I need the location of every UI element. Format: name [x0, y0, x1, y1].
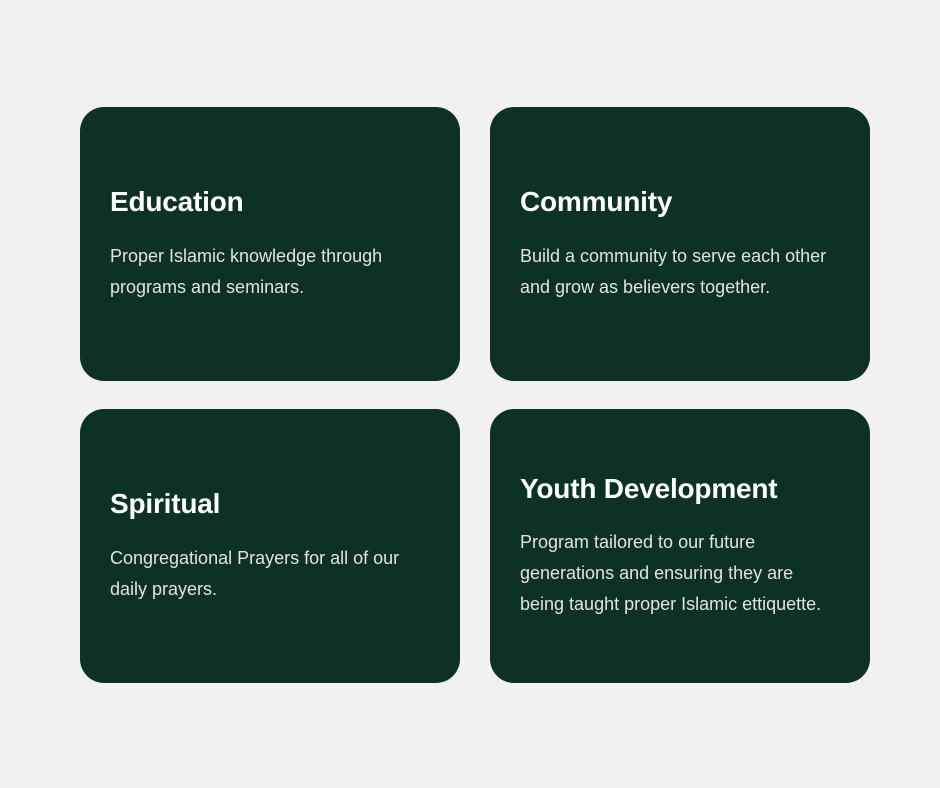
- card-body-youth-development: Program tailored to our future generatio…: [520, 527, 840, 620]
- card-title-community: Community: [520, 185, 840, 219]
- feature-card-education[interactable]: Education Proper Islamic knowledge throu…: [80, 107, 460, 381]
- feature-card-grid: Education Proper Islamic knowledge throu…: [80, 107, 870, 683]
- feature-card-youth-development[interactable]: Youth Development Program tailored to ou…: [490, 409, 870, 683]
- card-title-education: Education: [110, 185, 430, 219]
- card-title-youth-development: Youth Development: [520, 472, 840, 506]
- card-title-spiritual: Spiritual: [110, 487, 430, 521]
- card-body-spiritual: Congregational Prayers for all of our da…: [110, 543, 420, 605]
- feature-card-spiritual[interactable]: Spiritual Congregational Prayers for all…: [80, 409, 460, 683]
- feature-card-community[interactable]: Community Build a community to serve eac…: [490, 107, 870, 381]
- card-body-education: Proper Islamic knowledge through program…: [110, 241, 420, 303]
- card-body-community: Build a community to serve each other an…: [520, 241, 830, 303]
